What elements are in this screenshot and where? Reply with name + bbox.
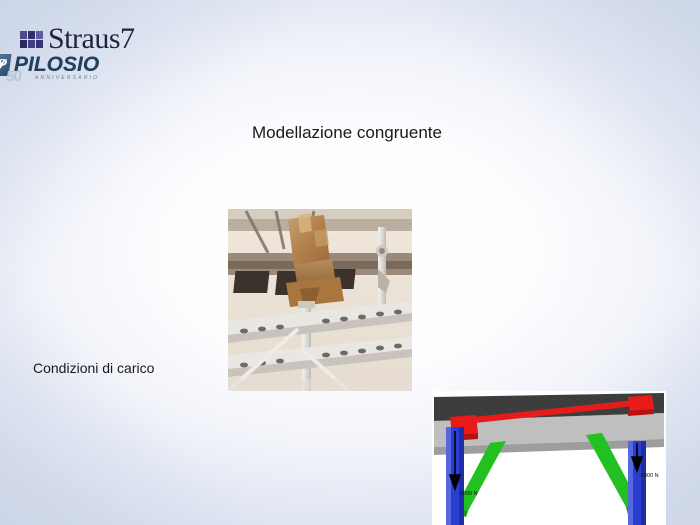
pilosio-wordmark-group: PILOSIO ANNIVERSARIO bbox=[14, 54, 99, 81]
load-label-right: -1000 N bbox=[639, 473, 659, 479]
fea-model-beam-frame: -1000 N -1000 N bbox=[432, 391, 666, 525]
pilosio-anniversary-number: 50 bbox=[6, 68, 22, 86]
straus7-blocks-logo bbox=[20, 31, 43, 48]
load-label-left: -1000 N bbox=[458, 491, 478, 497]
page-title: Modellazione congruente bbox=[252, 123, 700, 143]
straus7-wordmark: Straus7 bbox=[48, 24, 135, 54]
straus7-logo: Straus7 bbox=[20, 24, 700, 54]
slide-canvas: Straus7 𝓟 PILOSIO ANNIVERSARIO 50 Modell… bbox=[0, 0, 700, 525]
pilosio-tagline: ANNIVERSARIO bbox=[14, 76, 99, 81]
pilosio-wordmark: PILOSIO bbox=[14, 54, 99, 75]
pilosio-logo: 𝓟 PILOSIO ANNIVERSARIO 50 bbox=[0, 54, 688, 81]
photo-formwork-beam bbox=[228, 209, 412, 391]
